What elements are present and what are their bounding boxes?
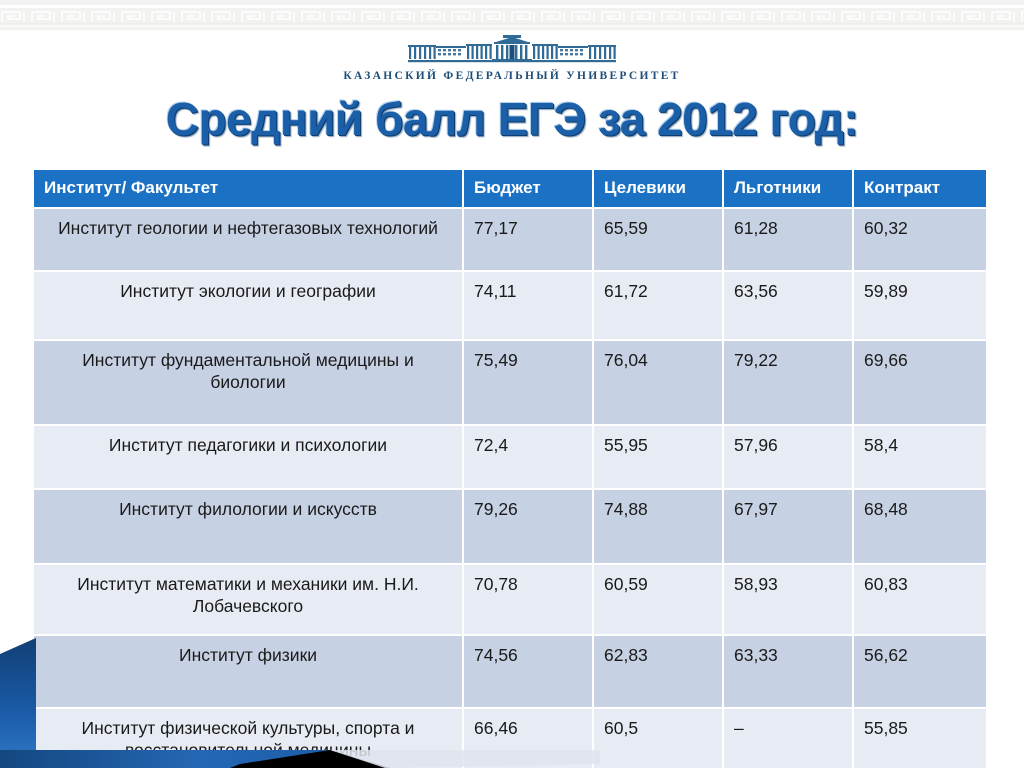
column-header-target[interactable]: Целевики	[593, 170, 723, 208]
cell-institute: Институт педагогики и психологии	[34, 425, 463, 490]
cell-contract: 69,66	[853, 340, 986, 425]
table-row: Институт физики 74,56 62,83 63,33 56,62	[34, 635, 986, 708]
grades-table-container: Институт/ Факультет Бюджет Целевики Льго…	[34, 170, 986, 768]
band-shadow-line	[0, 23, 1024, 27]
cell-privileged: 58,93	[723, 564, 853, 635]
cell-contract: 68,48	[853, 489, 986, 564]
table-row: Институт физической культуры, спорта и в…	[34, 708, 986, 768]
cell-target: 60,59	[593, 564, 723, 635]
cell-institute: Институт экологии и географии	[34, 271, 463, 340]
table-row: Институт филологии и искусств 79,26 74,8…	[34, 489, 986, 564]
cell-institute: Институт филологии и искусств	[34, 489, 463, 564]
cell-institute: Институт физической культуры, спорта и в…	[34, 708, 463, 768]
table-row: Институт экологии и географии 74,11 61,7…	[34, 271, 986, 340]
cell-privileged: 57,96	[723, 425, 853, 490]
cell-privileged: 61,28	[723, 208, 853, 271]
cell-contract: 59,89	[853, 271, 986, 340]
cell-budget: 70,78	[463, 564, 593, 635]
cell-budget: 66,46	[463, 708, 593, 768]
cell-institute: Институт геологии и нефтегазовых техноло…	[34, 208, 463, 271]
university-building-icon	[378, 33, 646, 67]
cell-budget: 75,49	[463, 340, 593, 425]
cell-privileged: 63,33	[723, 635, 853, 708]
cell-contract: 56,62	[853, 635, 986, 708]
page-title: Средний балл ЕГЭ за 2012 год:	[0, 92, 1024, 146]
column-header-institute[interactable]: Институт/ Факультет	[34, 170, 463, 208]
greek-key-pattern-icon	[0, 9, 1024, 24]
cell-institute: Институт фундаментальной медицины и биол…	[34, 340, 463, 425]
cell-target: 55,95	[593, 425, 723, 490]
cell-contract: 58,4	[853, 425, 986, 490]
slide: КАЗАНСКИЙ ФЕДЕРАЛЬНЫЙ УНИВЕРСИТЕТ Средни…	[0, 0, 1024, 768]
cell-target: 74,88	[593, 489, 723, 564]
table-row: Институт математики и механики им. Н.И. …	[34, 564, 986, 635]
cell-budget: 79,26	[463, 489, 593, 564]
cell-target: 62,83	[593, 635, 723, 708]
column-header-budget[interactable]: Бюджет	[463, 170, 593, 208]
cell-budget: 72,4	[463, 425, 593, 490]
cell-privileged: 79,22	[723, 340, 853, 425]
university-name: КАЗАНСКИЙ ФЕДЕРАЛЬНЫЙ УНИВЕРСИТЕТ	[0, 70, 1024, 82]
top-decorative-band	[0, 0, 1024, 30]
cell-target: 60,5	[593, 708, 723, 768]
cell-privileged: 67,97	[723, 489, 853, 564]
cell-target: 76,04	[593, 340, 723, 425]
table-row: Институт фундаментальной медицины и биол…	[34, 340, 986, 425]
cell-privileged: –	[723, 708, 853, 768]
cell-target: 65,59	[593, 208, 723, 271]
cell-contract: 60,32	[853, 208, 986, 271]
university-logo: КАЗАНСКИЙ ФЕДЕРАЛЬНЫЙ УНИВЕРСИТЕТ	[0, 33, 1024, 82]
table-row: Институт геологии и нефтегазовых техноло…	[34, 208, 986, 271]
cell-contract: 60,83	[853, 564, 986, 635]
grades-table: Институт/ Факультет Бюджет Целевики Льго…	[34, 170, 986, 768]
cell-institute: Институт физики	[34, 635, 463, 708]
band-highlight-line	[0, 5, 1024, 8]
cell-budget: 74,11	[463, 271, 593, 340]
table-header-row: Институт/ Факультет Бюджет Целевики Льго…	[34, 170, 986, 208]
column-header-privileged[interactable]: Льготники	[723, 170, 853, 208]
column-header-contract[interactable]: Контракт	[853, 170, 986, 208]
table-row: Институт педагогики и психологии 72,4 55…	[34, 425, 986, 490]
cell-budget: 77,17	[463, 208, 593, 271]
cell-privileged: 63,56	[723, 271, 853, 340]
cell-institute: Институт математики и механики им. Н.И. …	[34, 564, 463, 635]
cell-target: 61,72	[593, 271, 723, 340]
cell-budget: 74,56	[463, 635, 593, 708]
cell-contract: 55,85	[853, 708, 986, 768]
